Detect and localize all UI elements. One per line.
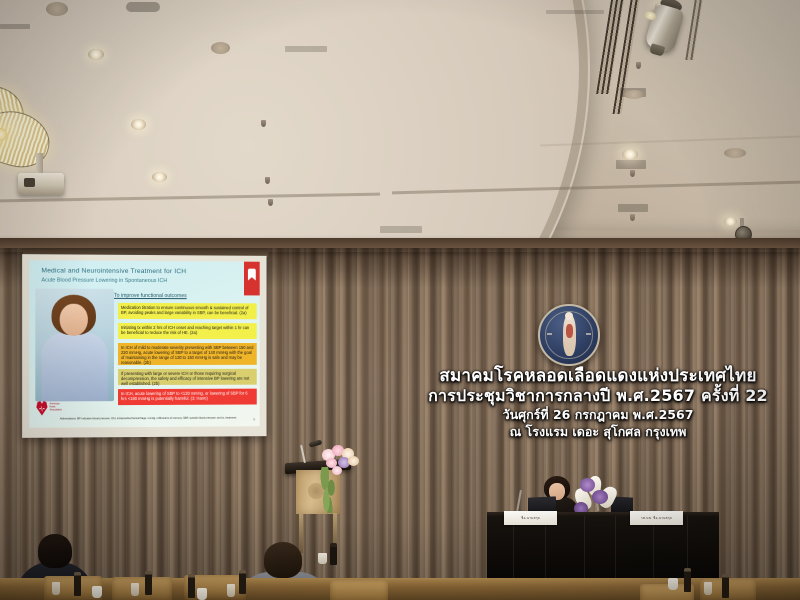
slide-page-number: 9 (253, 417, 255, 421)
ceiling-vent-slot-6 (618, 204, 648, 212)
slide-title: Medical and Neurointensive Treatment for… (41, 267, 186, 275)
drinking-glass-3 (227, 584, 235, 597)
heart-torch-icon (36, 400, 47, 415)
water-bottle-4 (239, 570, 246, 594)
aha-logo-text: American Heart Association (50, 402, 62, 411)
downlight-4 (211, 42, 230, 54)
signage-line-event: การประชุมวิชาการกลางปี พ.ศ.2567 ครั้งที่… (398, 386, 798, 406)
conference-hall-photo: Medical and Neurointensive Treatment for… (0, 0, 800, 600)
presentation-slide: Medical and Neurointensive Treatment for… (29, 260, 259, 427)
american-heart-association-logo: American Heart Association (36, 400, 60, 422)
ceiling-vent-slot-8 (546, 10, 604, 14)
ceiling (0, 0, 800, 250)
audience-left-head (38, 534, 72, 568)
coffee-cup-3 (668, 578, 678, 590)
podium-flower-arrangement (320, 445, 362, 479)
slide-section-heading: To improve functional outcomes (114, 293, 187, 299)
coffee-cup-1 (92, 586, 102, 598)
slide-bullet-1: Medication titration to ensure continuou… (118, 303, 257, 319)
ceiling-projector (18, 173, 64, 195)
event-signage-text: สมาคมโรคหลอดเลือดแดงแห่งประเทศไทย การประ… (398, 366, 798, 440)
podium-cup (318, 553, 327, 564)
podium-water-bottle (330, 543, 337, 565)
projection-screen: Medical and Neurointensive Treatment for… (22, 254, 266, 438)
slide-bullet-3: In ICH of mild to moderate severity pres… (118, 343, 257, 365)
drinking-glass-2 (131, 583, 139, 596)
slide-subtitle: Acute Blood Pressure Lowering in Spontan… (41, 277, 167, 284)
speaker-podium (296, 461, 340, 553)
slide-bullet-2: Initiating tx within 2 hrs of ICH onset … (118, 323, 257, 339)
downlight-6 (622, 149, 638, 160)
signage-line-date: วันศุกร์ที่ 26 กรกฎาคม พ.ศ.2567 (398, 406, 798, 423)
water-bottle-5 (684, 568, 691, 592)
slide-footnote: Abbreviations: BP indicates blood pressu… (60, 416, 237, 420)
water-bottle-1 (74, 572, 81, 596)
sprinkler-1 (636, 62, 641, 69)
ceiling-vent-slot-7 (380, 226, 422, 233)
ceiling-vent-slot-1 (126, 2, 160, 12)
signage-line-venue: ณ โรงแรม เดอะ สุโกศล กรุงเทพ (398, 423, 798, 440)
ceiling-vent-slot-2 (0, 24, 30, 29)
drinking-glass-4 (704, 582, 712, 595)
slide-bullet-4: If presenting with large or severe ICH o… (118, 369, 257, 385)
namecard-left: ชื่อ-นามสกุล (504, 511, 557, 525)
vascular-society-emblem (538, 304, 600, 366)
slide-patient-photo (35, 289, 114, 402)
downlight-3 (152, 172, 167, 182)
ceiling-vent-slot-5 (616, 160, 646, 169)
projector-lens (24, 178, 35, 187)
crystal-chandelier (0, 78, 100, 188)
chair-back-2 (112, 577, 172, 600)
sprinkler-4 (261, 120, 266, 127)
audience-right-head (264, 542, 302, 578)
sprinkler-6 (268, 199, 273, 206)
namecard-right: รศ.นพ. ชื่อ-นามสกุล (630, 511, 683, 525)
sprinkler-3 (630, 214, 635, 221)
downlight-1 (88, 49, 104, 60)
water-bottle-2 (145, 571, 152, 595)
signage-line-organization: สมาคมโรคหลอดเลือดแดงแห่งประเทศไทย (398, 366, 798, 386)
emblem-figure-head (565, 312, 573, 320)
coffee-cup-2 (197, 588, 207, 600)
emblem-anatomy-figure (563, 314, 576, 356)
slide-corner-ribbon-icon (244, 262, 260, 296)
water-bottle-3 (188, 574, 195, 598)
aha-line-3: Association (50, 408, 62, 411)
ceiling-vent-slot-3 (285, 46, 327, 52)
downlight-5 (46, 2, 68, 16)
downlight-2 (131, 119, 146, 130)
downlight-7 (624, 90, 644, 99)
chair-back-4 (330, 580, 388, 600)
sprinkler-2 (630, 170, 635, 177)
water-bottle-6 (722, 574, 729, 598)
slide-bullet-5: In ICH, acute lowering of SBP to <130 mm… (118, 389, 257, 405)
downlight-8 (724, 148, 746, 158)
sprinkler-5 (265, 177, 270, 184)
drinking-glass-1 (52, 582, 60, 595)
